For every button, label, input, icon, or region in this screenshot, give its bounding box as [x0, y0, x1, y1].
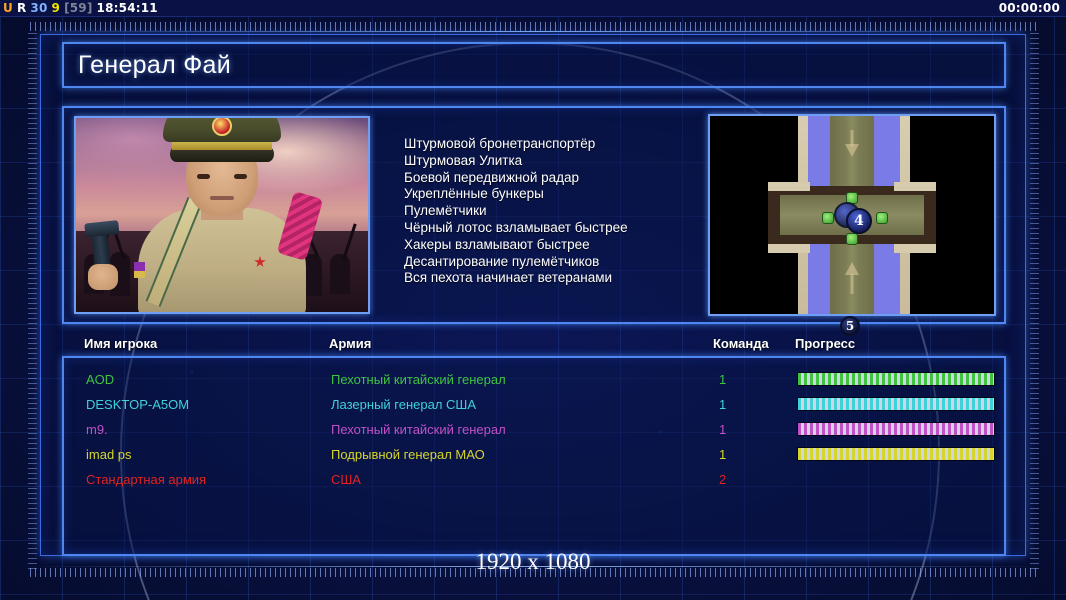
progress-fill: [798, 423, 994, 435]
portrait-silhouette: [330, 254, 350, 294]
player-name: AOD: [86, 372, 114, 387]
player-rows: AODПехотный китайский генерал1DESKTOP-A5…: [64, 358, 1004, 492]
player-name: m9.: [86, 422, 108, 437]
player-name: imad ps: [86, 447, 132, 462]
map-arrow-stem: [851, 130, 854, 146]
general-info-panel: Штурмовой бронетранспортёр Штурмовая Ули…: [62, 106, 1006, 324]
map-start-position: [822, 212, 834, 224]
status-prefix-u: U: [3, 1, 13, 15]
table-row[interactable]: imad psПодрывной генерал МАО1: [64, 442, 1004, 467]
divider-top: [30, 31, 1040, 32]
header-player-name: Имя игрока: [84, 336, 157, 351]
player-table-headers: Имя игрока Армия Команда Прогресс: [62, 336, 1006, 356]
progress-fill: [798, 398, 994, 410]
page-title: Генерал Фай: [64, 51, 231, 80]
general-ability-list: Штурмовой бронетранспортёр Штурмовая Ули…: [404, 136, 704, 287]
general-portrait: [74, 116, 370, 314]
header-team: Команда: [713, 336, 769, 351]
status-value-9: 9: [52, 1, 61, 15]
map-sand-edge: [894, 244, 936, 253]
resolution-label: 1920 x 1080: [0, 549, 1066, 575]
portrait-hand: [88, 264, 118, 290]
header-progress: Прогресс: [795, 336, 855, 351]
map-arrow-stem: [851, 274, 854, 294]
player-progress-bar: [797, 422, 995, 436]
player-progress-bar: [797, 397, 995, 411]
player-army: Лазерный генерал США: [331, 397, 476, 412]
status-prefix-r: R: [17, 1, 26, 15]
ruler-left-decoration: [28, 33, 37, 573]
map-preview[interactable]: 4: [708, 114, 996, 316]
player-team: 2: [719, 472, 726, 487]
progress-fill: [798, 448, 994, 460]
status-bracket-value: [59]: [64, 1, 92, 15]
game-lobby-screen: UR 30 9 [59] 18:54:11 00:00:00 Генерал Ф…: [0, 0, 1066, 600]
portrait-eye: [234, 174, 247, 179]
map-center-badge: 4: [846, 208, 872, 234]
table-row[interactable]: m9.Пехотный китайский генерал1: [64, 417, 1004, 442]
portrait-mouth: [210, 196, 234, 200]
map-player-count-badge: 5: [840, 316, 860, 336]
general-title-panel: Генерал Фай: [62, 42, 1006, 88]
map-start-position: [846, 233, 858, 245]
map-sand-edge: [894, 182, 936, 191]
ability-item: Хакеры взламывают быстрее: [404, 237, 704, 254]
table-row[interactable]: DESKTOP-A5OMЛазерный генерал США1: [64, 392, 1004, 417]
portrait-eye: [197, 174, 210, 179]
portrait-cap-badge: [212, 116, 232, 136]
ability-item: Пулемётчики: [404, 203, 704, 220]
map-sand-edge: [768, 244, 810, 253]
status-timer: 00:00:00: [999, 1, 1060, 15]
ability-item: Укреплённые бункеры: [404, 186, 704, 203]
player-army: Пехотный китайский генерал: [331, 372, 506, 387]
player-team: 1: [719, 447, 726, 462]
status-value-30: 30: [30, 1, 47, 15]
ability-item: Боевой передвижной радар: [404, 170, 704, 187]
player-progress-bar: [797, 447, 995, 461]
player-progress-bar: [797, 372, 995, 386]
ability-item: Вся пехота начинает ветеранами: [404, 270, 704, 287]
map-sand-edge: [768, 182, 810, 191]
status-bar-right: 00:00:00: [999, 1, 1066, 15]
ruler-top-decoration: [30, 22, 1040, 31]
ability-item: Штурмовой бронетранспортёр: [404, 136, 704, 153]
portrait-medal: [134, 262, 145, 278]
player-army: Пехотный китайский генерал: [331, 422, 506, 437]
table-row[interactable]: Стандартная армияСША2: [64, 467, 1004, 492]
player-table-panel: AODПехотный китайский генерал1DESKTOP-A5…: [62, 356, 1006, 556]
player-name: Стандартная армия: [86, 472, 206, 487]
player-team: 1: [719, 397, 726, 412]
ability-item: Десантирование пулемётчиков: [404, 254, 704, 271]
player-team: 1: [719, 372, 726, 387]
status-bar: UR 30 9 [59] 18:54:11 00:00:00: [0, 0, 1066, 17]
map-start-position: [876, 212, 888, 224]
player-team: 1: [719, 422, 726, 437]
player-name: DESKTOP-A5OM: [86, 397, 189, 412]
status-bar-left: UR 30 9 [59] 18:54:11: [0, 1, 158, 15]
status-clock: 18:54:11: [97, 1, 158, 15]
player-army: Подрывной генерал МАО: [331, 447, 485, 462]
ability-item: Чёрный лотос взламывает быстрее: [404, 220, 704, 237]
player-army: США: [331, 472, 361, 487]
ability-item: Штурмовая Улитка: [404, 153, 704, 170]
header-army: Армия: [329, 336, 371, 351]
progress-fill: [798, 373, 994, 385]
table-row[interactable]: AODПехотный китайский генерал1: [64, 367, 1004, 392]
ruler-right-decoration: [1030, 33, 1039, 573]
